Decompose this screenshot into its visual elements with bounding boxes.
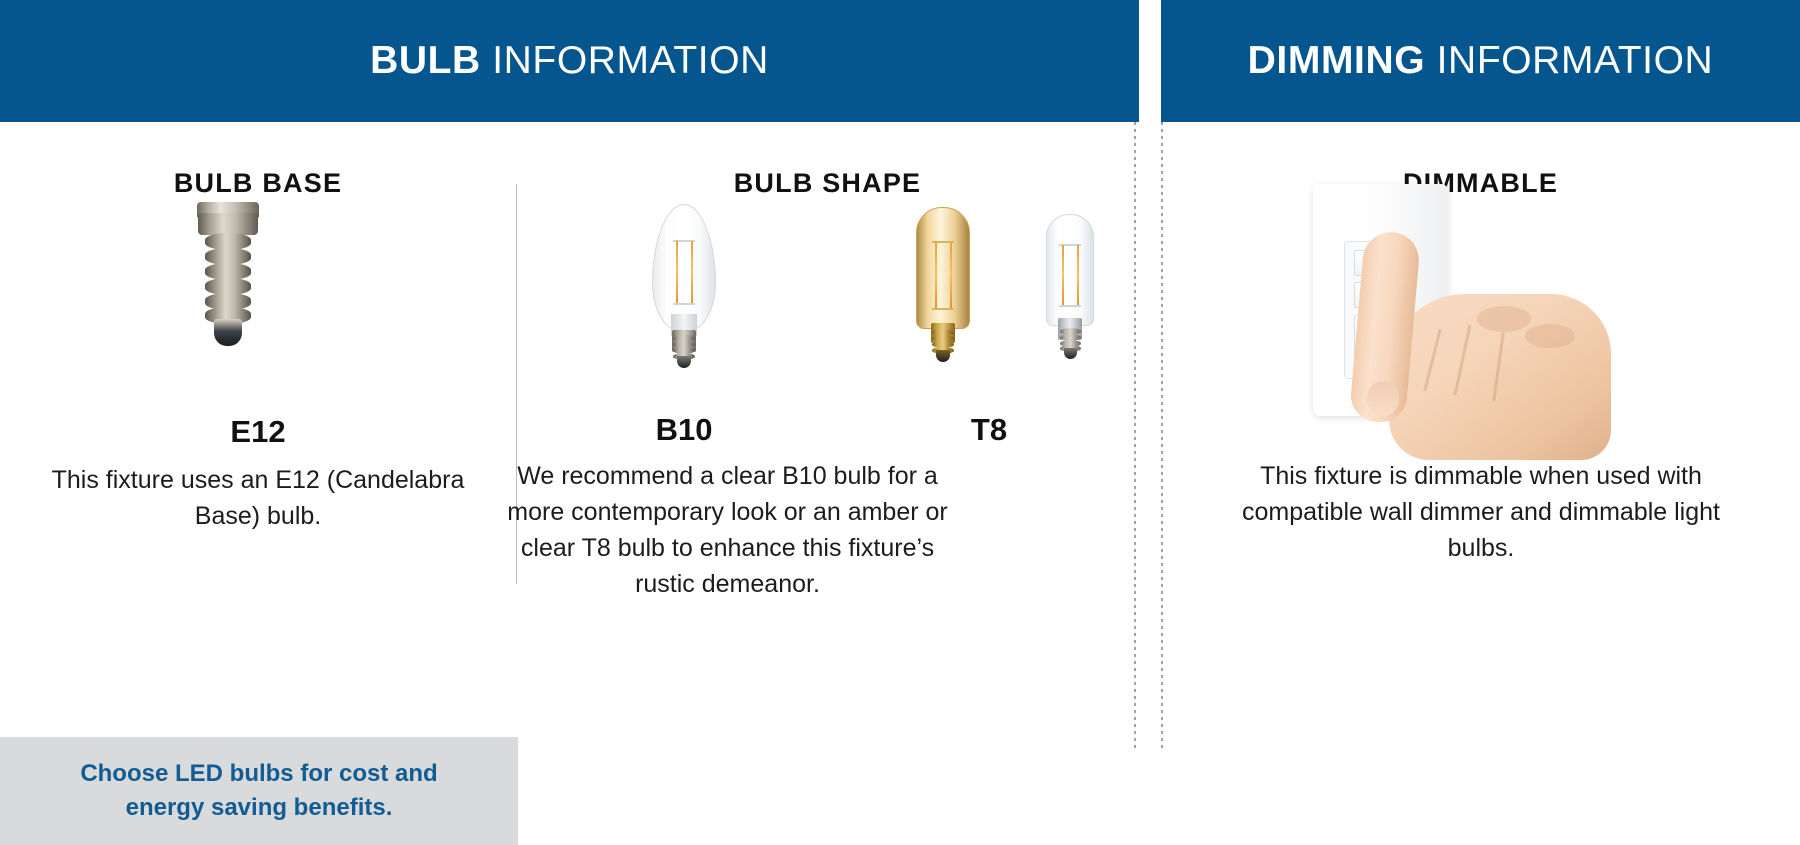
b10-filament-bridge-bottom [673, 303, 695, 305]
e12-bulb-base-image [197, 202, 259, 362]
b10-filament [691, 241, 693, 303]
b10-bulb-image [647, 204, 721, 369]
t8-clear-filament-bridge-bottom [1059, 305, 1081, 307]
bulb-and-dimming-information-infographic: BULB INFORMATION DIMMING INFORMATION BUL… [0, 0, 1800, 750]
b10-glass [652, 204, 716, 332]
t8-amber-bulb-image [910, 207, 976, 369]
t8-amber-filament [935, 242, 937, 308]
bulb-information-title: BULB INFORMATION [370, 39, 769, 83]
led-callout-box: Choose LED bulbs for cost and energy sav… [0, 737, 518, 845]
dimmable-description: This fixture is dimmable when used with … [1216, 458, 1746, 566]
e12-threads [205, 233, 251, 325]
bulb-information-panel: BULB BASE E12 This fixture uses an E12 (… [0, 122, 1139, 750]
hand-pressing-dimmer-image [1357, 232, 1611, 460]
section-title-dimmable: DIMMABLE [1161, 168, 1800, 199]
t8-amber-contact-tip [936, 350, 950, 362]
hand-knuckle [1525, 324, 1575, 348]
t8-amber-filament [950, 242, 952, 308]
b10-contact-tip [677, 356, 691, 368]
spec-label-e12: E12 [0, 414, 516, 450]
t8-clear-filament [1062, 245, 1064, 305]
bulb-information-header-bar: BULB INFORMATION [0, 0, 1139, 122]
bulb-information-title-rest: INFORMATION [481, 39, 769, 82]
t8-amber-filament-bridge-bottom [932, 308, 954, 310]
e12-contact-tip [214, 319, 242, 346]
t8-amber-glass [916, 207, 970, 329]
bulb-information-title-strong: BULB [370, 39, 481, 82]
dimming-information-title-rest: INFORMATION [1425, 39, 1713, 82]
bulb-shape-description: We recommend a clear B10 bulb for a more… [500, 458, 955, 602]
t8-clear-contact-tip [1064, 348, 1077, 359]
e12-ring [198, 213, 258, 235]
dimming-information-title: DIMMING INFORMATION [1248, 39, 1714, 83]
t8-clear-filament [1077, 245, 1079, 305]
spec-label-t8: T8 [905, 412, 1073, 448]
section-title-bulb-shape: BULB SHAPE [516, 168, 1139, 199]
section-title-bulb-base: BULB BASE [0, 168, 516, 199]
led-callout-text: Choose LED bulbs for cost and energy sav… [44, 757, 474, 825]
b10-filament [676, 241, 678, 303]
t8-clear-glass [1046, 214, 1094, 326]
spec-label-b10: B10 [600, 412, 768, 448]
dimming-information-panel: DIMMABLE This fixture is dimmable when u… [1161, 122, 1800, 750]
hand-knuckle [1477, 306, 1531, 332]
dimming-information-header-bar: DIMMING INFORMATION [1161, 0, 1800, 122]
bulb-base-description: This fixture uses an E12 (Candelabra Bas… [48, 462, 468, 534]
dimming-information-title-strong: DIMMING [1248, 39, 1426, 82]
t8-clear-bulb-image [1040, 214, 1102, 364]
